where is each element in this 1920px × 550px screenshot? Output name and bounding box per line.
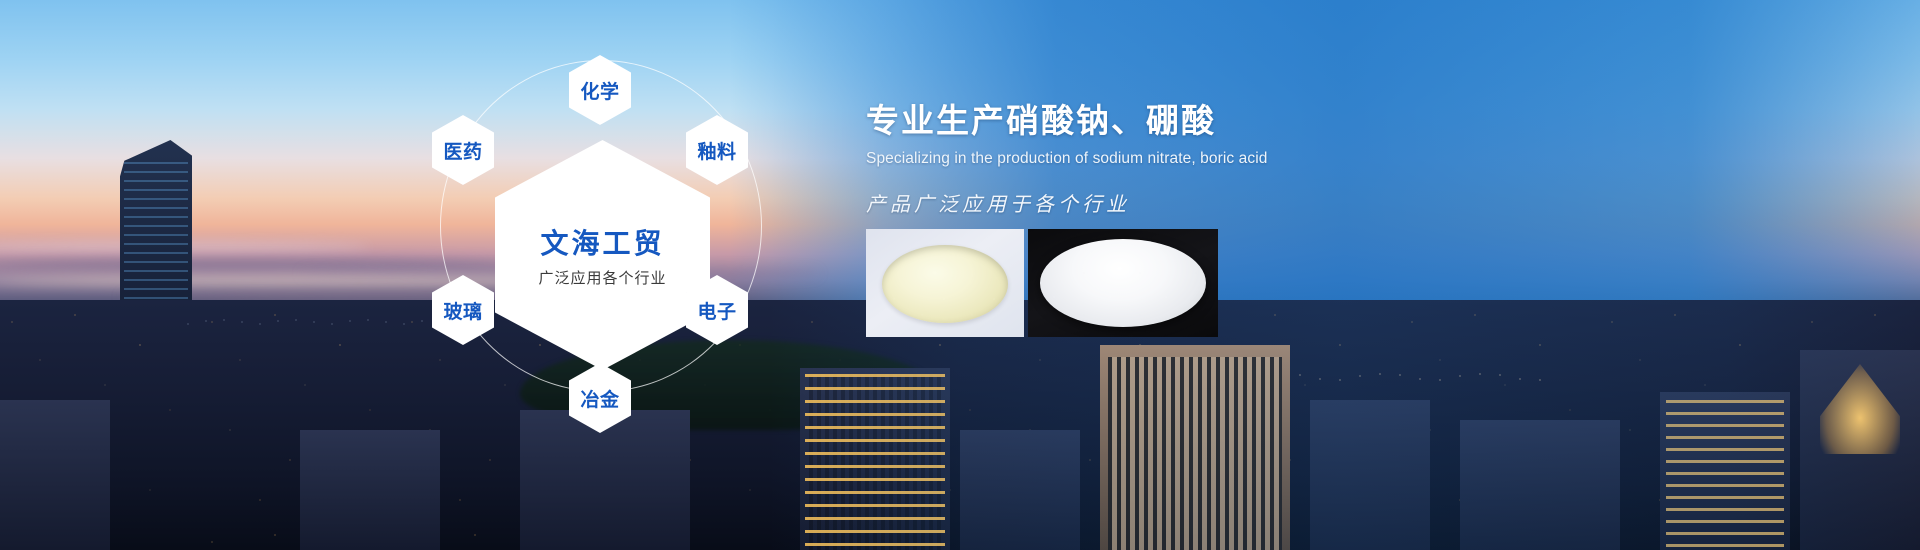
building [800,368,950,550]
powder-pile [882,245,1008,323]
building [1800,350,1920,550]
building [300,430,440,550]
industry-hex-diagram: 文海工贸 广泛应用各个行业 化学 釉料 电子 冶金 玻璃 医药 [420,25,780,425]
promo-banner: 文海工贸 广泛应用各个行业 化学 釉料 电子 冶金 玻璃 医药 专业生产硝酸钠、… [0,0,1920,550]
building [960,430,1080,550]
building [1460,420,1620,550]
company-tagline: 广泛应用各个行业 [538,267,666,288]
product-photo-boric-acid [1028,229,1218,337]
hex-node-label: 医药 [443,137,482,164]
headline-english: Specializing in the production of sodium… [866,150,1486,168]
hex-node-label: 釉料 [697,137,736,164]
tagline: 产品广泛应用于各个行业 [866,188,1486,217]
hex-node-label: 冶金 [580,385,619,412]
hex-node-label: 电子 [697,297,736,324]
banner-copy: 专业生产硝酸钠、硼酸 Specializing in the productio… [866,100,1486,217]
company-name: 文海工贸 [540,222,664,262]
building [0,400,110,550]
building [520,410,690,550]
building [1660,392,1790,550]
building [1310,400,1430,550]
powder-pile [1040,239,1206,327]
hex-node-label: 化学 [580,77,619,104]
headline: 专业生产硝酸钠、硼酸 [866,100,1486,141]
product-photo-sodium-nitrate [866,229,1024,337]
hex-node-label: 玻璃 [443,297,482,324]
building [1100,345,1290,550]
